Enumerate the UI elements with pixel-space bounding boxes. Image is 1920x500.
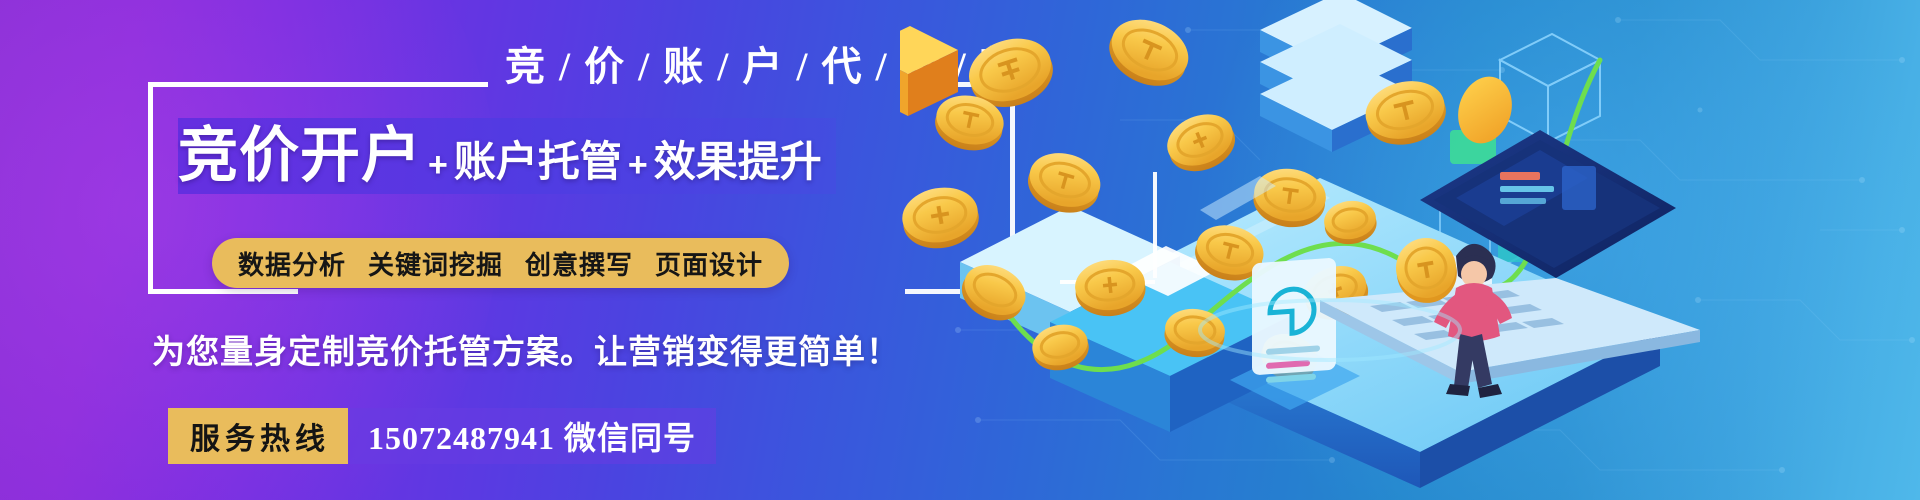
- headline-plus-2: +: [622, 148, 654, 182]
- headline: 竞价开户 + 账户托管 + 效果提升: [178, 126, 822, 186]
- headline-plus-1: +: [422, 148, 454, 182]
- headline-secondary: 账户托管: [454, 141, 622, 183]
- service-item-4: 页面设计: [655, 245, 763, 282]
- hotline-number[interactable]: 15072487941 微信同号: [348, 408, 716, 464]
- promo-banner: 竞 / 价 / 账 / 户 / 代 / 运 / 营 竞价开户 + 账户托管 + …: [0, 0, 1920, 500]
- headline-tertiary: 效果提升: [654, 141, 822, 183]
- service-item-1: 数据分析: [238, 245, 346, 282]
- subtitle: 为您量身定制竞价托管方案。让营销变得更简单！: [152, 325, 900, 373]
- banner-text-block: 竞 / 价 / 账 / 户 / 代 / 运 / 营 竞价开户 + 账户托管 + …: [0, 0, 960, 500]
- headline-primary: 竞价开户: [178, 126, 422, 186]
- hotline-row: 服务热线 15072487941 微信同号: [168, 408, 716, 464]
- service-item-3: 创意撰写: [525, 245, 633, 282]
- services-pill: 数据分析 关键词挖掘 创意撰写 页面设计: [212, 238, 789, 288]
- headline-band: 竞价开户 + 账户托管 + 效果提升: [178, 118, 836, 194]
- service-item-2: 关键词挖掘: [368, 245, 503, 282]
- isometric-illustration: [900, 0, 1920, 500]
- hotline-label: 服务热线: [168, 408, 348, 464]
